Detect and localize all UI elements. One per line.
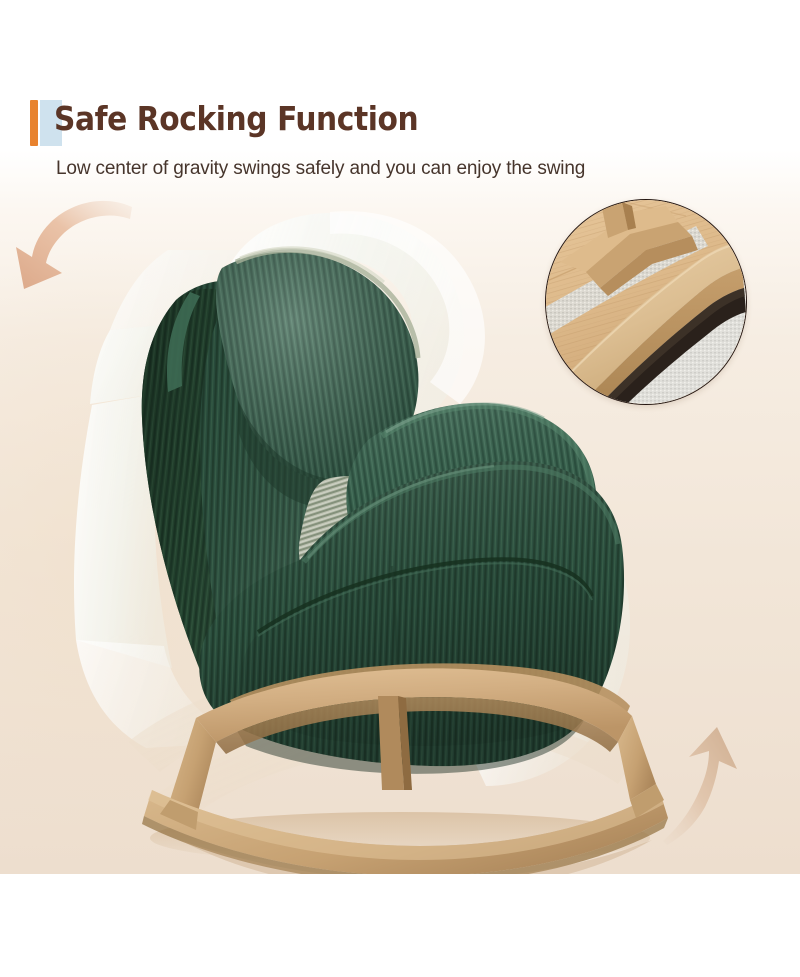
rocker-detail-inset [545,199,747,405]
product-feature-panel: Safe Rocking Function Low center of grav… [0,0,800,977]
header-block: Safe Rocking Function Low center of grav… [0,0,800,200]
title-accent-row: Safe Rocking Function [30,100,62,146]
swing-arrow-left-icon [10,185,140,300]
accent-bar-orange [30,100,38,146]
bottom-white-band [0,874,800,977]
page-title: Safe Rocking Function [54,96,418,142]
swing-arrow-right-icon [655,725,795,845]
page-subtitle: Low center of gravity swings safely and … [56,158,585,180]
